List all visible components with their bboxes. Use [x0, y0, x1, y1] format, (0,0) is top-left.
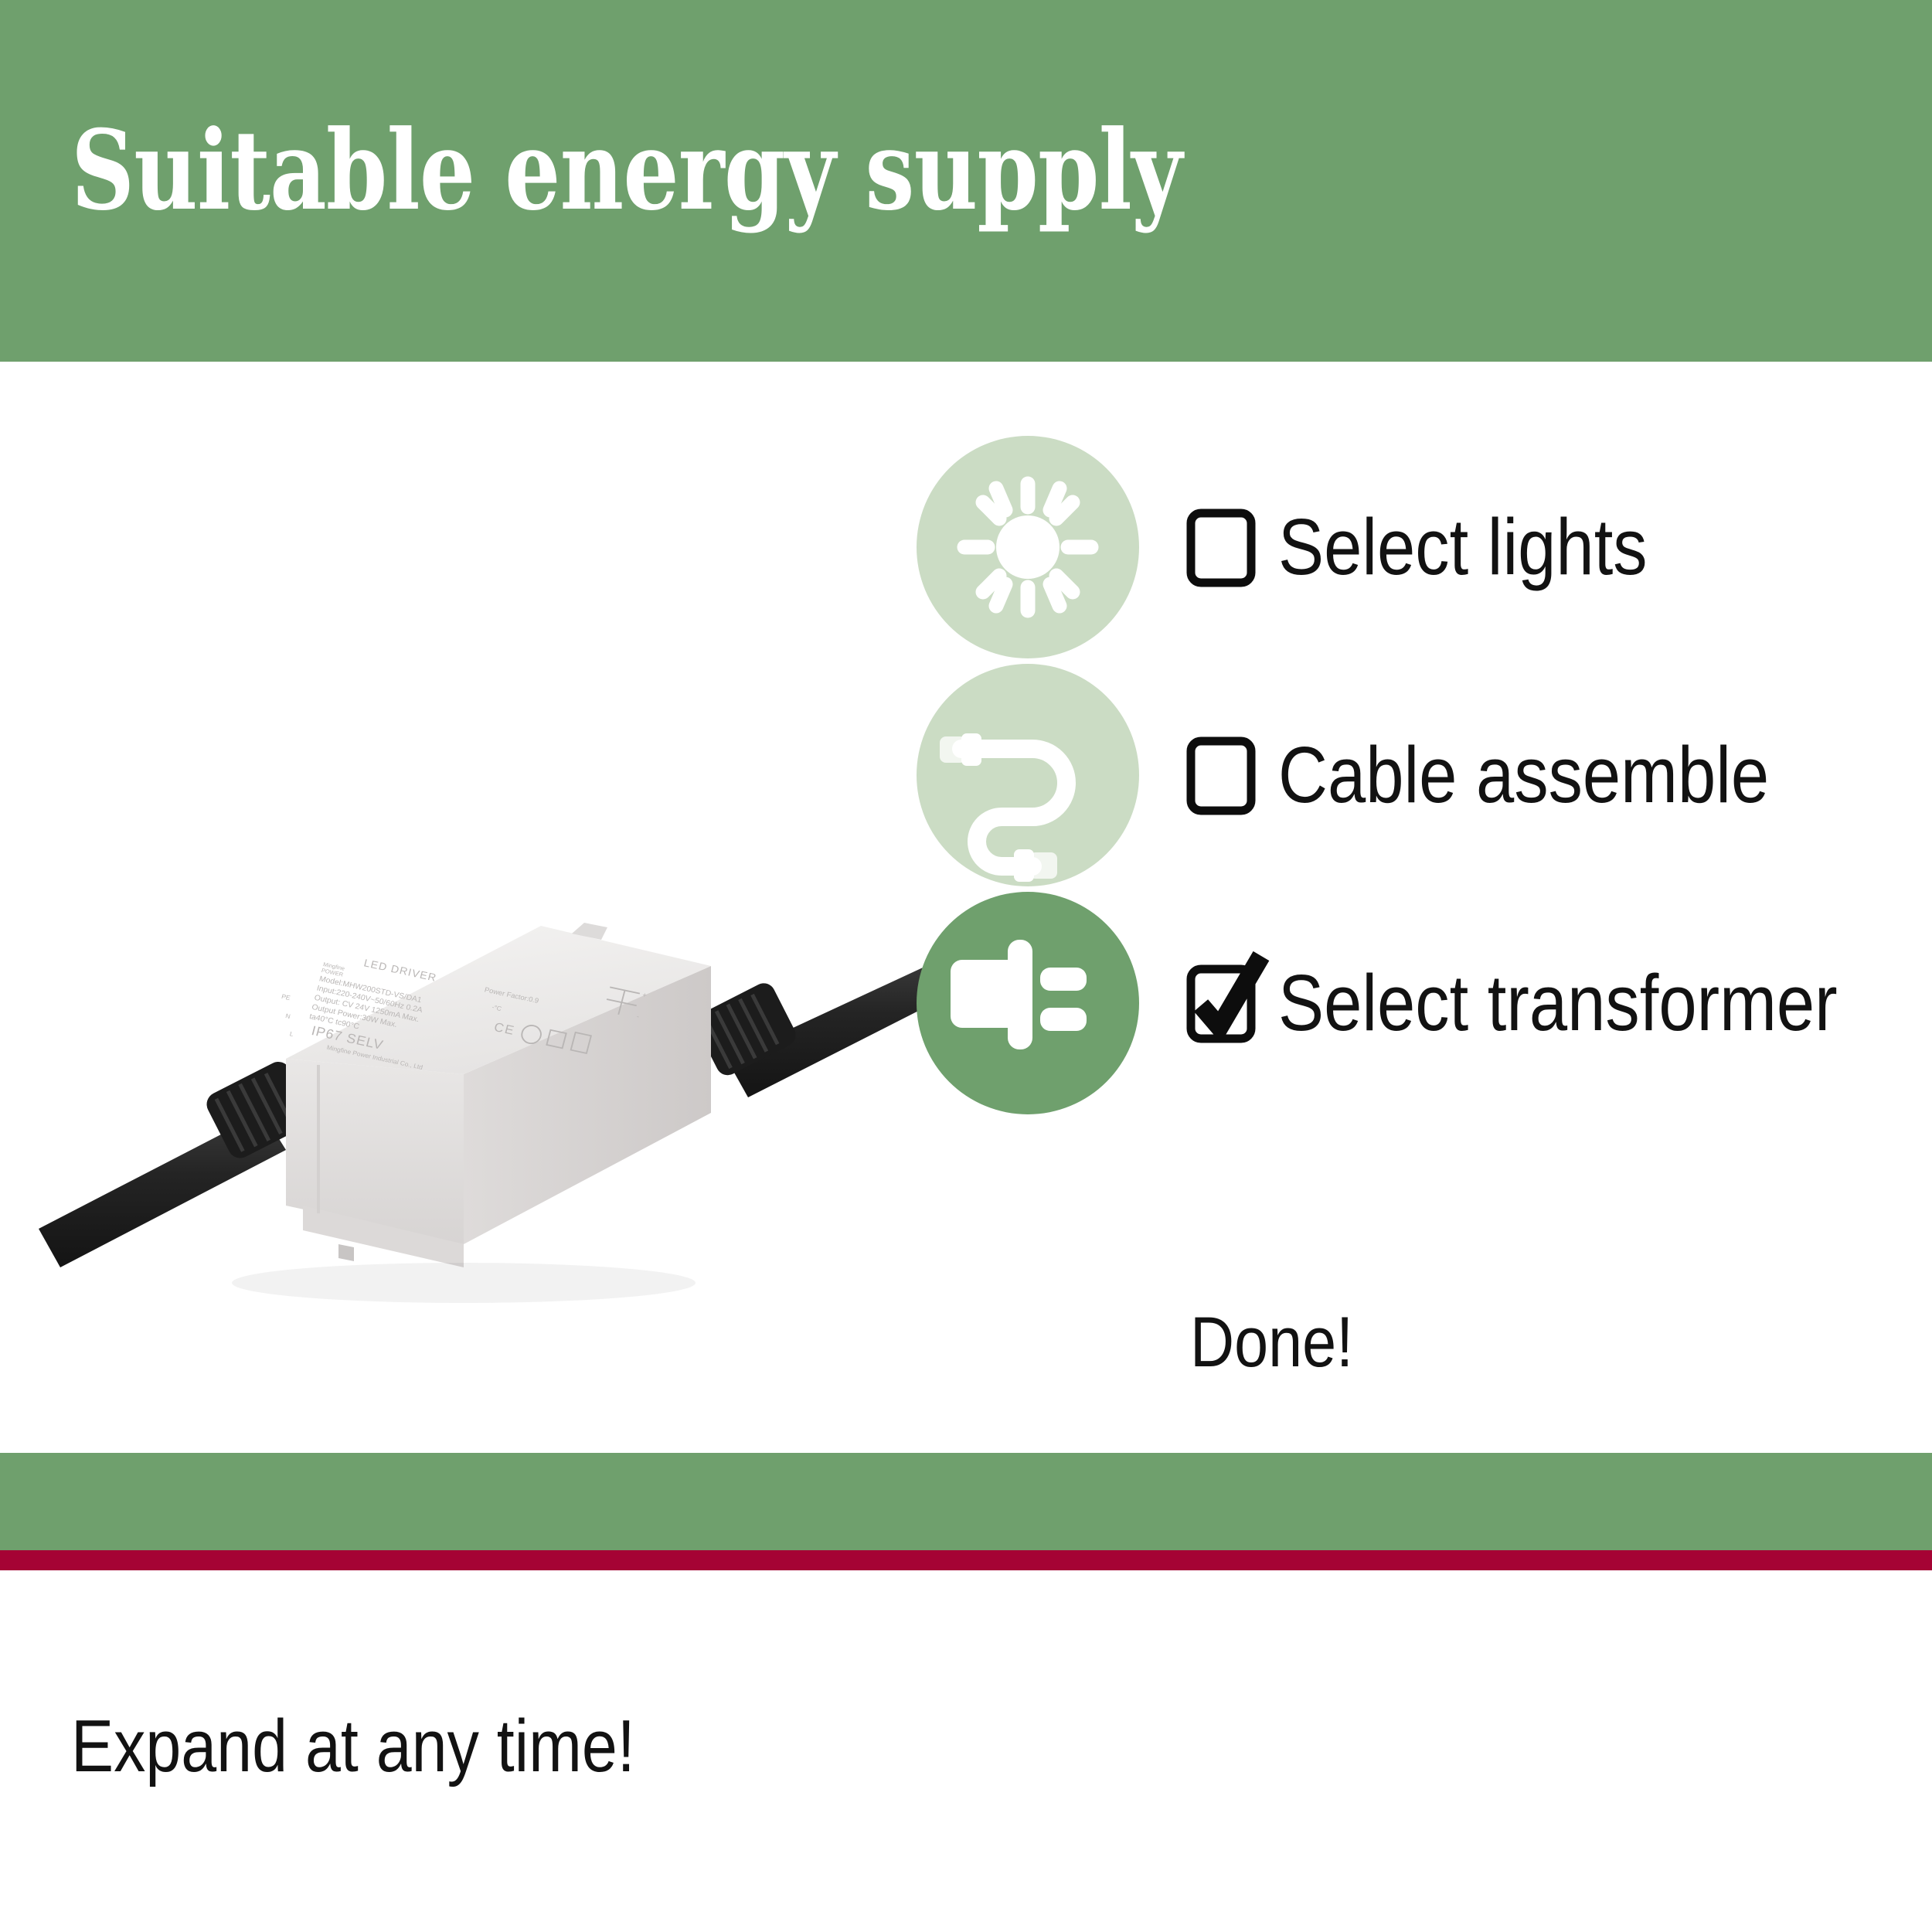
- svg-text:LED DRIVER: LED DRIVER: [362, 957, 438, 984]
- sun-icon-badge: [917, 436, 1139, 658]
- svg-text:L: L: [289, 1030, 294, 1038]
- checklist-row-select-lights[interactable]: Select lights: [917, 433, 1913, 661]
- status-done-text: Done!: [1190, 1302, 1353, 1383]
- cable-icon: [917, 664, 1139, 886]
- checklist-item-select-lights[interactable]: Select lights: [1190, 507, 1707, 587]
- svg-text:PE: PE: [281, 993, 291, 1002]
- svg-text:N: N: [284, 1012, 291, 1020]
- checklist-label-select-transformer: Select transformer: [1278, 963, 1838, 1043]
- checklist-label-select-lights: Select lights: [1278, 507, 1648, 587]
- checklist: Select lights Cable as: [917, 433, 1913, 1117]
- footer-tagline: Expand at any time!: [71, 1704, 635, 1789]
- plug-icon-badge: [917, 892, 1139, 1114]
- checklist-item-select-transformer[interactable]: Select transformer: [1190, 963, 1928, 1043]
- header-bar: Suitable energy supply: [0, 0, 1932, 362]
- plug-icon: [917, 892, 1139, 1114]
- checklist-row-cable-assemble[interactable]: Cable assemble: [917, 661, 1913, 889]
- checklist-row-select-transformer[interactable]: Select transformer: [917, 889, 1913, 1117]
- checkbox-select-transformer[interactable]: [1190, 968, 1250, 1038]
- checklist-item-cable-assemble[interactable]: Cable assemble: [1190, 735, 1849, 815]
- page-title: Suitable energy supply: [71, 116, 1182, 226]
- cable-icon-badge: [917, 664, 1139, 886]
- sun-icon: [917, 436, 1139, 658]
- infographic-page: Suitable energy supply: [0, 0, 1932, 1932]
- checkbox-cable-assemble[interactable]: [1190, 740, 1250, 810]
- footer-green-bar: [0, 1453, 1932, 1550]
- product-image-led-driver: LED DRIVER Mingfine POWER Model:MHW200ST…: [31, 881, 943, 1314]
- checkbox-select-lights[interactable]: [1190, 512, 1250, 582]
- footer-red-bar: [0, 1550, 1932, 1570]
- checklist-label-cable-assemble: Cable assemble: [1278, 735, 1769, 815]
